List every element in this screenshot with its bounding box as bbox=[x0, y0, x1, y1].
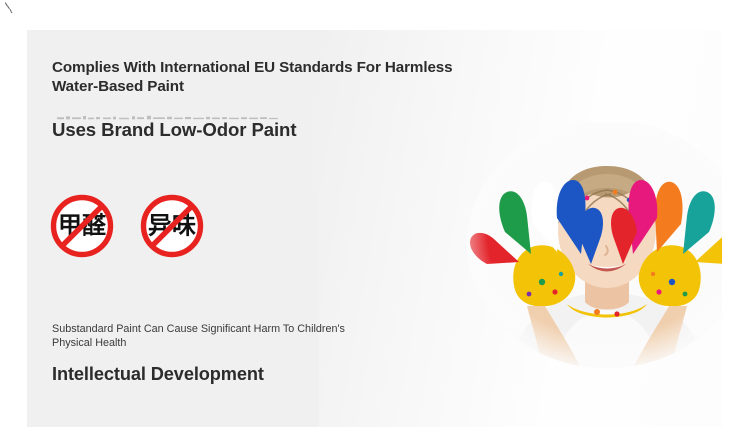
claim-eu-standards: Complies With International EU Standards… bbox=[52, 58, 492, 96]
claim-low-odor-paint: Uses Brand Low-Odor Paint bbox=[52, 118, 472, 141]
no-odor-icon: 异味 bbox=[139, 193, 205, 259]
scan-artifact-icon bbox=[4, 2, 18, 16]
warning-substandard-paint: Substandard Paint Can Cause Significant … bbox=[52, 322, 352, 350]
no-formaldehyde-icon: 甲醛 bbox=[49, 193, 115, 259]
prohibition-signs-row: 甲醛 异味 bbox=[49, 193, 205, 259]
promo-card: Complies With International EU Standards… bbox=[27, 30, 722, 427]
claim-intellectual-development: Intellectual Development bbox=[52, 362, 452, 386]
